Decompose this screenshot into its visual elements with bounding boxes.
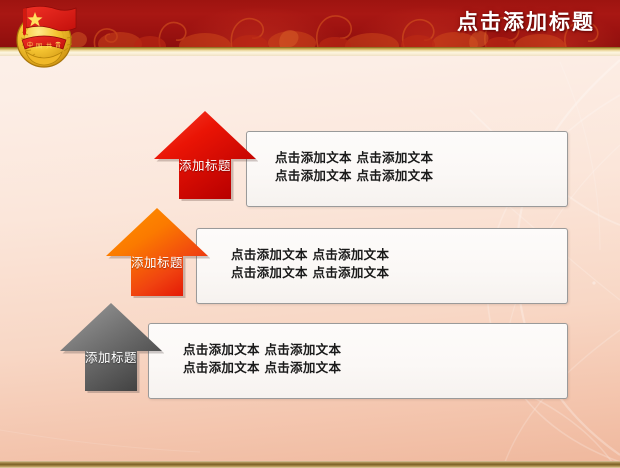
svg-text:中: 中 — [27, 41, 33, 49]
svg-text:共: 共 — [46, 42, 52, 50]
panel-3-line-2: 点击添加文本 点击添加文本 — [183, 359, 341, 377]
arrow-shape-3[interactable]: 添加标题 — [58, 301, 164, 393]
arrow-shape-2[interactable]: 添加标题 — [104, 206, 210, 298]
slide-canvas: 点击添加标题 中 国 共 青 — [0, 0, 620, 468]
text-panel-1[interactable]: 点击添加文本 点击添加文本 点击添加文本 点击添加文本 — [246, 131, 568, 207]
bottom-gold-bar — [0, 461, 620, 468]
header-gold-divider — [0, 47, 620, 56]
panel-3-line-1: 点击添加文本 点击添加文本 — [183, 341, 341, 359]
panel-1-text: 点击添加文本 点击添加文本 点击添加文本 点击添加文本 — [275, 149, 433, 185]
communist-youth-league-emblem: 中 国 共 青 — [8, 2, 86, 70]
svg-text:国: 国 — [36, 43, 42, 50]
text-panel-2[interactable]: 点击添加文本 点击添加文本 点击添加文本 点击添加文本 — [196, 228, 568, 304]
arrow-shape-1[interactable]: 添加标题 — [152, 109, 258, 201]
panel-2-line-1: 点击添加文本 点击添加文本 — [231, 246, 389, 264]
panel-2-text: 点击添加文本 点击添加文本 点击添加文本 点击添加文本 — [231, 246, 389, 282]
svg-text:青: 青 — [55, 41, 61, 49]
text-panel-3[interactable]: 点击添加文本 点击添加文本 点击添加文本 点击添加文本 — [148, 323, 568, 399]
slide-header-banner: 点击添加标题 — [0, 0, 620, 47]
arrow-up-icon-3 — [58, 301, 164, 393]
arrow-up-icon-1 — [152, 109, 258, 201]
arrow-up-icon-2 — [104, 206, 210, 298]
page-title: 点击添加标题 — [457, 6, 595, 36]
panel-2-line-2: 点击添加文本 点击添加文本 — [231, 264, 389, 282]
panel-1-line-1: 点击添加文本 点击添加文本 — [275, 149, 433, 167]
panel-1-line-2: 点击添加文本 点击添加文本 — [275, 167, 433, 185]
panel-3-text: 点击添加文本 点击添加文本 点击添加文本 点击添加文本 — [183, 341, 341, 377]
